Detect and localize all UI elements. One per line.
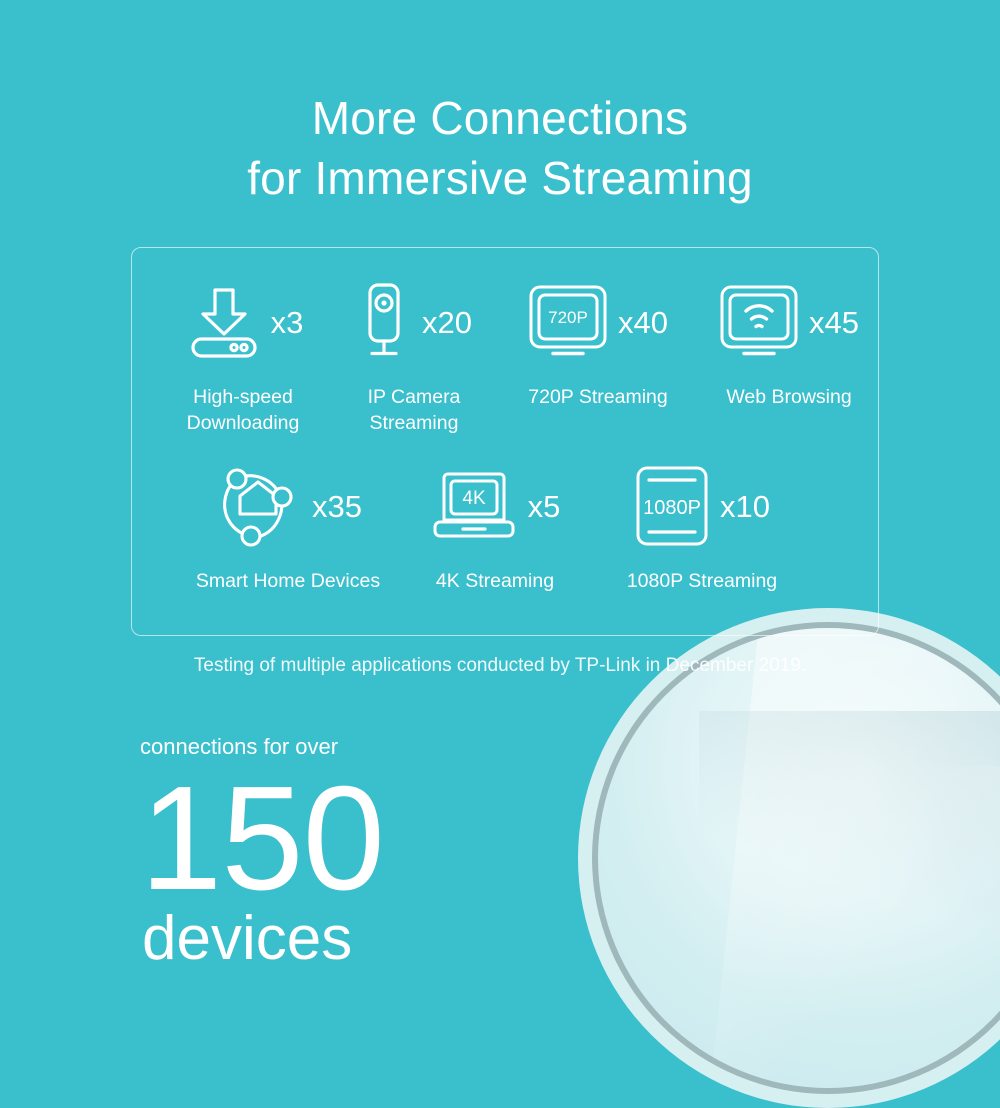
ip-camera-icon bbox=[356, 282, 412, 362]
product-highlight-c bbox=[800, 766, 1000, 1088]
app-item-count: x20 bbox=[422, 307, 472, 338]
app-item-high-speed-downloading: x3 High-speed Downloading bbox=[160, 276, 330, 436]
smart-home-icon bbox=[214, 462, 302, 550]
app-item-1080p-streaming: 1080P x10 1080P Streaming bbox=[588, 460, 816, 594]
tablet-screen-text: 1080P bbox=[643, 497, 701, 519]
tablet-1080p-icon: 1080P bbox=[634, 465, 710, 547]
app-item-top: 4K x5 bbox=[430, 460, 561, 552]
app-item-label: High-speed Downloading bbox=[187, 384, 300, 436]
app-item-web-browsing: x45 Web Browsing bbox=[698, 276, 880, 410]
app-item-count: x45 bbox=[809, 307, 859, 338]
download-device-icon bbox=[187, 284, 261, 360]
app-item-label: 4K Streaming bbox=[436, 568, 554, 594]
page-title-line-2: for Immersive Streaming bbox=[0, 148, 1000, 208]
monitor-wifi-icon bbox=[719, 284, 799, 360]
monitor-screen-text: 720P bbox=[548, 308, 588, 327]
app-item-top: x35 bbox=[214, 460, 362, 552]
app-item-label: Smart Home Devices bbox=[196, 568, 380, 594]
applications-row-1: x3 High-speed Downloading x20 IP Camer bbox=[132, 276, 880, 436]
app-item-label: 1080P Streaming bbox=[627, 568, 777, 594]
app-item-720p-streaming: 720P x40 720P Streaming bbox=[498, 276, 698, 410]
footnote-text: Testing of multiple applications conduct… bbox=[0, 655, 1000, 677]
app-item-count: x3 bbox=[271, 307, 304, 338]
app-item-ip-camera-streaming: x20 IP Camera Streaming bbox=[330, 276, 498, 436]
stat-number: 150 bbox=[140, 775, 384, 903]
page-title-line-1: More Connections bbox=[0, 88, 1000, 148]
app-item-count: x10 bbox=[720, 491, 770, 522]
device-count-stat: connections for over 150 devices bbox=[140, 733, 384, 971]
applications-row-2: x35 Smart Home Devices 4K x5 4K Streami bbox=[132, 460, 880, 594]
laptop-screen-text: 4K bbox=[462, 488, 486, 509]
product-photo-router bbox=[578, 608, 1000, 1108]
app-item-count: x35 bbox=[312, 491, 362, 522]
app-item-label: 720P Streaming bbox=[528, 384, 667, 410]
app-item-count: x5 bbox=[528, 491, 561, 522]
app-item-top: 1080P x10 bbox=[634, 460, 770, 552]
app-item-4k-streaming: 4K x5 4K Streaming bbox=[402, 460, 588, 594]
laptop-4k-icon: 4K bbox=[430, 468, 518, 544]
app-item-top: x45 bbox=[719, 276, 859, 368]
app-item-top: x3 bbox=[187, 276, 304, 368]
app-item-top: x20 bbox=[356, 276, 472, 368]
app-item-top: 720P x40 bbox=[528, 276, 668, 368]
applications-card: x3 High-speed Downloading x20 IP Camer bbox=[131, 247, 879, 636]
monitor-720p-icon: 720P bbox=[528, 284, 608, 360]
app-item-label: Web Browsing bbox=[726, 384, 851, 410]
app-item-label: IP Camera Streaming bbox=[368, 384, 461, 436]
stat-unit: devices bbox=[142, 907, 384, 971]
app-item-smart-home-devices: x35 Smart Home Devices bbox=[174, 460, 402, 594]
page-title: More Connections for Immersive Streaming bbox=[0, 88, 1000, 208]
app-item-count: x40 bbox=[618, 307, 668, 338]
